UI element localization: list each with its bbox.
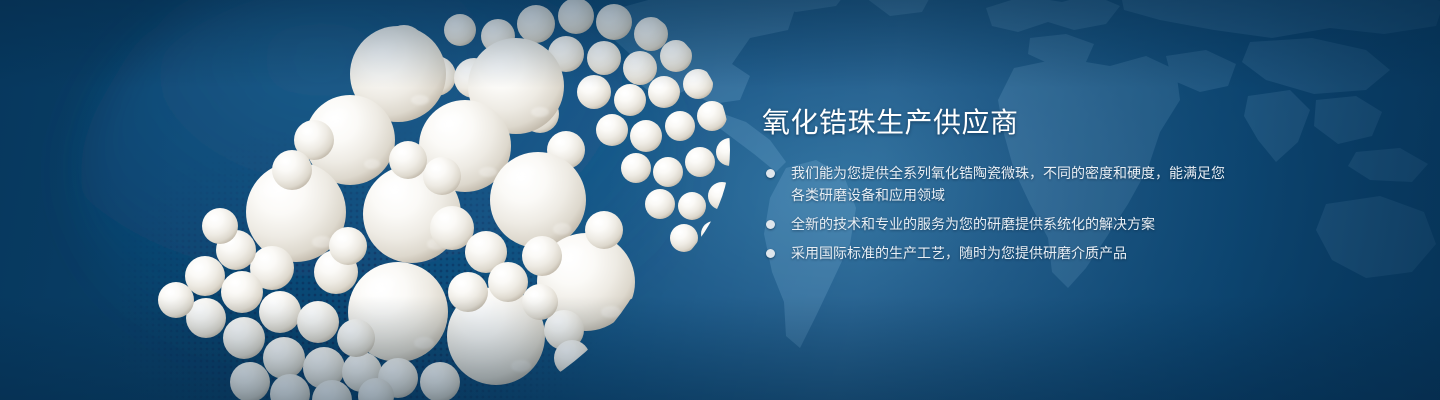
bullet-dot-icon: [766, 169, 775, 178]
bullet-dot-icon: [766, 220, 775, 229]
bullet-dot-icon: [766, 249, 775, 258]
promo-banner: 氧化锆珠生产供应商 我们能为您提供全系列氧化锆陶瓷微珠，不同的密度和硬度，能满足…: [0, 0, 1440, 400]
list-item: 采用国际标准的生产工艺，随时为您提供研磨介质产品: [762, 242, 1232, 264]
list-item-label: 全新的技术和专业的服务为您的研磨提供系统化的解决方案: [791, 213, 1232, 235]
banner-feature-list: 我们能为您提供全系列氧化锆陶瓷微珠，不同的密度和硬度，能满足您各类研磨设备和应用…: [762, 162, 1232, 264]
list-item: 全新的技术和专业的服务为您的研磨提供系统化的解决方案: [762, 213, 1232, 235]
list-item-label: 采用国际标准的生产工艺，随时为您提供研磨介质产品: [791, 242, 1232, 264]
banner-copy-block: 氧化锆珠生产供应商 我们能为您提供全系列氧化锆陶瓷微珠，不同的密度和硬度，能满足…: [762, 104, 1232, 264]
banner-headline: 氧化锆珠生产供应商: [762, 104, 1232, 142]
list-item: 我们能为您提供全系列氧化锆陶瓷微珠，不同的密度和硬度，能满足您各类研磨设备和应用…: [762, 162, 1232, 206]
list-item-label: 我们能为您提供全系列氧化锆陶瓷微珠，不同的密度和硬度，能满足您各类研磨设备和应用…: [791, 162, 1232, 206]
